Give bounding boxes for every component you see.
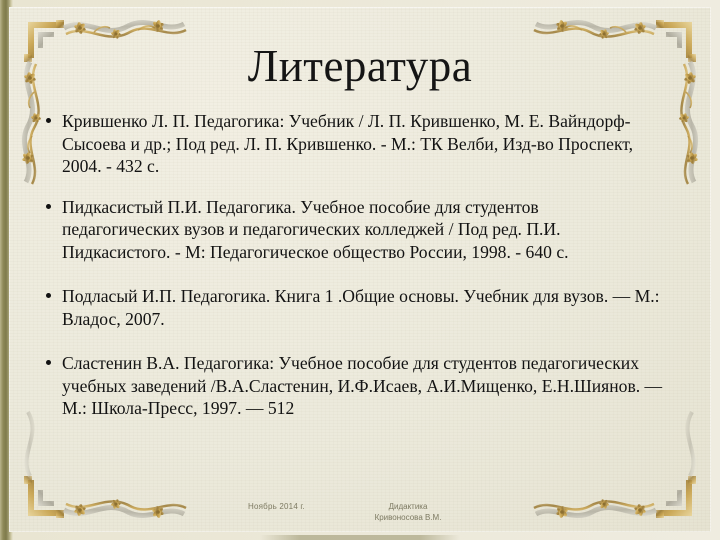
reference-text: Крившенко Л. П. Педагогика: Учебник / Л.… xyxy=(62,110,662,178)
reference-list: Крившенко Л. П. Педагогика: Учебник / Л.… xyxy=(34,110,674,420)
footer-author: Кривоносова В.М. xyxy=(318,512,498,523)
bullet-dot-icon xyxy=(46,204,51,209)
list-item: Пидкасистый П.И. Педагогика. Учебное пос… xyxy=(34,196,648,264)
slide-footer: Ноябрь 2014 г. Дидактика Кривоносова В.М… xyxy=(0,501,720,531)
footer-course-block: Дидактика Кривоносова В.М. xyxy=(318,501,498,523)
slide-root: Литература Крившенко Л. П. Педагогика: У… xyxy=(0,0,720,540)
bullet-dot-icon xyxy=(46,118,51,123)
list-item: Сластенин В.А. Педагогика: Учебное пособ… xyxy=(34,352,680,420)
slide-title: Литература xyxy=(0,40,720,92)
reference-text: Подласый И.П. Педагогика. Книга 1 .Общие… xyxy=(62,285,678,330)
footer-course: Дидактика xyxy=(318,501,498,512)
reference-text: Пидкасистый П.И. Педагогика. Учебное пос… xyxy=(62,196,648,264)
reference-text: Сластенин В.А. Педагогика: Учебное пособ… xyxy=(62,352,680,420)
bullet-dot-icon xyxy=(46,360,51,365)
bottom-accent-bar xyxy=(260,535,460,540)
list-item: Крившенко Л. П. Педагогика: Учебник / Л.… xyxy=(34,110,662,178)
footer-date: Ноябрь 2014 г. xyxy=(248,501,305,512)
bullet-dot-icon xyxy=(46,293,51,298)
list-item: Подласый И.П. Педагогика. Книга 1 .Общие… xyxy=(34,285,678,330)
